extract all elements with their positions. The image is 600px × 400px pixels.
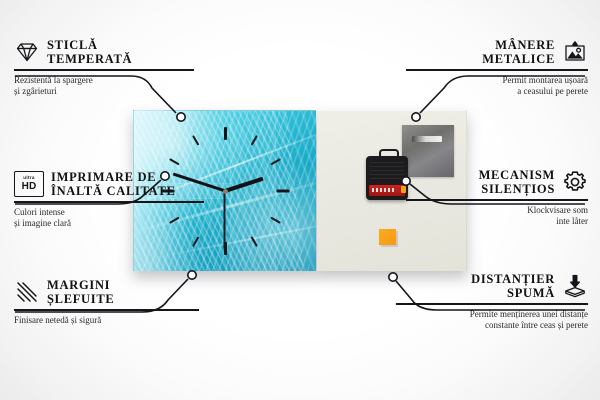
callout-header: MARGINI ȘLEFUITE [14,278,199,306]
callout-desc-line1: Klockvisare som [406,205,588,216]
callout-header: MÂNERE METALICE [406,38,588,66]
callout-polished-edges: MARGINI ȘLEFUITE Finisare netedă și sigu… [14,278,199,326]
battery [369,185,405,196]
hatched-edge-icon [14,279,40,305]
callout-header: ultra HD IMPRIMARE DE ÎNALTĂ CALITATE [14,170,204,198]
callout-desc-line2: inte låter [406,216,588,227]
callout-title-line2: TEMPERATĂ [47,52,132,66]
callout-rule [14,309,199,311]
callout-foam-spacer: DISTANȚIER SPUMĂ Permite menținerea unei… [396,272,588,331]
callout-desc-line2: și imagine clară [14,218,204,229]
callout-rule [406,69,588,71]
callout-rule [396,303,588,305]
ultra-hd-icon: ultra HD [14,171,44,197]
callout-title-line1: MECANISM [479,168,555,182]
callout-desc-line1: Rezistentă la spargere [14,75,194,86]
ultra-hd-icon-large-label: HD [22,182,37,192]
framed-picture-icon [562,39,588,65]
callout-title-line1: MARGINI [47,278,114,292]
callout-tempered-glass: STICLĂ TEMPERATĂ Rezistentă la spargere … [14,38,194,97]
callout-desc-line2: constante între ceas și perete [396,320,588,331]
callout-desc-line2: și zgârieturi [14,86,194,97]
clock-marker-7 [192,236,199,247]
callout-print-quality: ultra HD IMPRIMARE DE ÎNALTĂ CALITATE Cu… [14,170,204,229]
clock-marker-5 [251,236,258,247]
clock-second-hand [224,191,226,249]
callout-header: STICLĂ TEMPERATĂ [14,38,194,66]
arrow-onto-pad-icon [562,273,588,299]
callout-header: MECANISM SILENȚIOS [406,168,588,196]
callout-title-line2: SPUMĂ [471,286,555,300]
mechanism-hanging-loop [379,149,399,161]
callout-title-line1: MÂNERE [482,38,555,52]
callout-title-line2: ȘLEFUITE [47,292,114,306]
clock-marker-1 [251,135,258,146]
battery-label [372,188,396,192]
callout-desc-line1: Culori intense [14,207,204,218]
callout-desc-line1: Permit montarea ușoară [406,75,588,86]
clock-hour-hand [224,177,263,193]
diamond-icon [14,39,40,65]
callout-desc-line1: Finisare netedă și sigură [14,315,199,326]
clock-marker-12 [224,127,227,140]
callout-rule [14,69,194,71]
foam-spacer-pad [379,229,396,245]
callout-title-line2: SILENȚIOS [479,182,555,196]
clock-mechanism [366,156,408,200]
callout-title-line1: IMPRIMARE DE [51,170,176,184]
clock-marker-11 [192,135,199,146]
callout-title-line2: METALICE [482,52,555,66]
callout-silent-mechanism: MECANISM SILENȚIOS Klockvisare som inte … [406,168,588,227]
hanger-slot [412,136,442,142]
clock-center-cap [223,189,228,194]
callout-desc-line2: a ceasului pe perete [406,86,588,97]
infographic-canvas: STICLĂ TEMPERATĂ Rezistentă la spargere … [0,0,600,400]
callout-rule [14,201,204,203]
callout-title-line1: DISTANȚIER [471,272,555,286]
clock-marker-4 [270,217,281,224]
callout-title-line2: ÎNALTĂ CALITATE [51,184,176,198]
clock-marker-10 [169,158,180,165]
callout-title-line1: STICLĂ [47,38,132,52]
callout-header: DISTANȚIER SPUMĂ [396,272,588,300]
callout-desc-line1: Permite menținerea unei distanțe [396,309,588,320]
mechanism-body-texture [370,162,404,180]
gear-icon [562,169,588,195]
clock-marker-3 [277,190,290,193]
clock-marker-2 [270,158,281,165]
callout-metal-handles: MÂNERE METALICE Permit montarea ușoară a… [406,38,588,97]
callout-rule [406,199,588,201]
